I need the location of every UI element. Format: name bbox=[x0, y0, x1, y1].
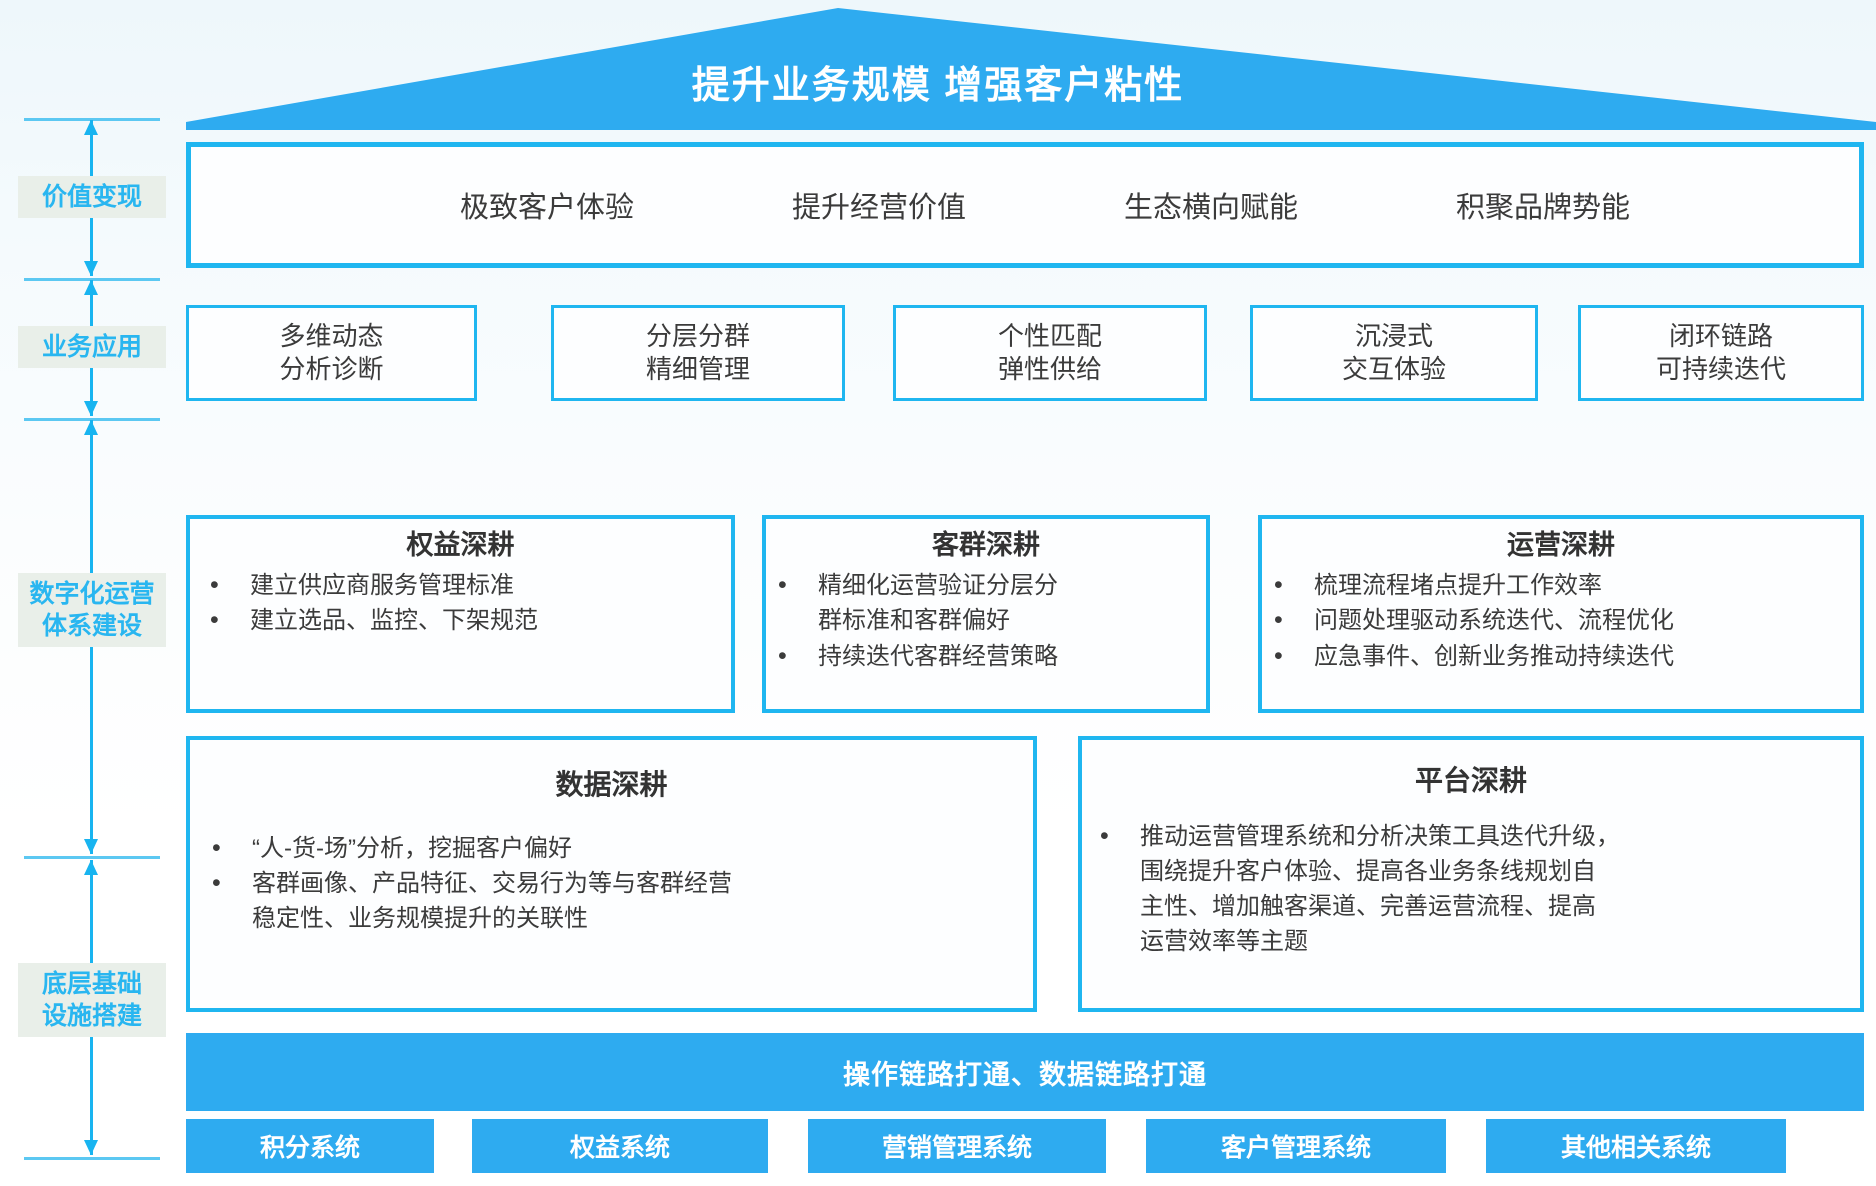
axis-tick-4 bbox=[24, 856, 160, 859]
list-item-continuation: 围绕提升客户体验、提高各业务条线规划自 bbox=[1094, 855, 1850, 889]
biz-app-line-2: 分析诊断 bbox=[279, 353, 383, 386]
system-box-other[interactable]: 其他相关系统 bbox=[1486, 1119, 1786, 1173]
biz-app-box-3[interactable]: 个性匹配 弹性供给 bbox=[893, 305, 1207, 401]
arrow-head-down-icon bbox=[84, 1140, 98, 1155]
arrow-head-down-icon bbox=[84, 261, 98, 276]
arrow-head-up-icon bbox=[84, 280, 98, 295]
link-bar: 操作链路打通、数据链路打通 bbox=[186, 1033, 1864, 1111]
system-box-customer[interactable]: 客户管理系统 bbox=[1146, 1119, 1446, 1173]
arrow-head-up-icon bbox=[84, 120, 98, 135]
axis-label-value-realization: 价值变现 bbox=[18, 176, 166, 218]
value-item-brand-momentum: 积聚品牌势能 bbox=[1456, 184, 1630, 226]
axis-label-line-1: 底层基础 bbox=[18, 968, 166, 1000]
deep-box-title: 平台深耕 bbox=[1082, 764, 1860, 798]
deep-box-rights[interactable]: 权益深耕 建立供应商服务管理标准 建立选品、监控、下架规范 bbox=[186, 515, 735, 713]
biz-app-line-1: 个性匹配 bbox=[998, 320, 1102, 353]
biz-app-line-1: 沉浸式 bbox=[1355, 320, 1433, 353]
system-box-rights[interactable]: 权益系统 bbox=[472, 1119, 768, 1173]
deep-box-bullet-list: 梳理流程堵点提升工作效率 问题处理驱动系统迭代、流程优化 应急事件、创新业务推动… bbox=[1262, 569, 1860, 673]
deep-box-customer-group[interactable]: 客群深耕 精细化运营验证分层分 群标准和客群偏好 持续迭代客群经营策略 bbox=[762, 515, 1210, 713]
list-item: 建立选品、监控、下架规范 bbox=[204, 604, 721, 638]
axis-tick-5 bbox=[24, 1157, 160, 1160]
axis-label-line-1: 数字化运营 bbox=[18, 578, 166, 610]
system-box-marketing[interactable]: 营销管理系统 bbox=[808, 1119, 1106, 1173]
biz-app-box-1[interactable]: 多维动态 分析诊断 bbox=[186, 305, 477, 401]
list-item: 精细化运营验证分层分 bbox=[772, 569, 1196, 603]
diagram-canvas: 提升业务规模 增强客户粘性 价值变现 业务应用 数字化运营 体系建设 bbox=[0, 0, 1876, 1186]
deep-box-title: 运营深耕 bbox=[1262, 529, 1860, 561]
list-item: “人-货-场”分析，挖掘客户偏好 bbox=[206, 832, 1023, 866]
axis-label-infrastructure: 底层基础 设施搭建 bbox=[18, 963, 166, 1037]
axis-label-line-2: 体系建设 bbox=[18, 610, 166, 642]
biz-app-line-2: 精细管理 bbox=[646, 353, 750, 386]
arrow-head-up-icon bbox=[84, 420, 98, 435]
biz-app-line-1: 多维动态 bbox=[279, 320, 383, 353]
list-item-continuation: 稳定性、业务规模提升的关联性 bbox=[206, 902, 1023, 936]
biz-app-box-5[interactable]: 闭环链路 可持续迭代 bbox=[1578, 305, 1864, 401]
list-item: 建立供应商服务管理标准 bbox=[204, 569, 721, 603]
deep-box-bullet-list: 精细化运营验证分层分 群标准和客群偏好 持续迭代客群经营策略 bbox=[766, 569, 1206, 673]
list-item-continuation: 群标准和客群偏好 bbox=[772, 604, 1196, 638]
left-axis: 价值变现 业务应用 数字化运营 体系建设 底层基础 设施搭建 bbox=[12, 118, 172, 1160]
list-item: 应急事件、创新业务推动持续迭代 bbox=[1268, 640, 1850, 674]
biz-app-line-2: 交互体验 bbox=[1342, 353, 1446, 386]
list-item-continuation: 运营效率等主题 bbox=[1094, 925, 1850, 959]
axis-label-business-application: 业务应用 bbox=[18, 326, 166, 368]
biz-app-line-2: 弹性供给 bbox=[998, 353, 1102, 386]
list-item: 持续迭代客群经营策略 bbox=[772, 640, 1196, 674]
value-item-customer-experience: 极致客户体验 bbox=[460, 184, 634, 226]
deep-box-platform[interactable]: 平台深耕 推动运营管理系统和分析决策工具迭代升级， 围绕提升客户体验、提高各业务… bbox=[1078, 736, 1864, 1012]
value-item-ecosystem-enabling: 生态横向赋能 bbox=[1124, 184, 1298, 226]
biz-app-line-1: 分层分群 bbox=[646, 320, 750, 353]
list-item: 问题处理驱动系统迭代、流程优化 bbox=[1268, 604, 1850, 638]
biz-app-box-4[interactable]: 沉浸式 交互体验 bbox=[1250, 305, 1538, 401]
arrow-head-down-icon bbox=[84, 839, 98, 854]
value-item-business-value: 提升经营价值 bbox=[792, 184, 966, 226]
deep-box-data[interactable]: 数据深耕 “人-货-场”分析，挖掘客户偏好 客群画像、产品特征、交易行为等与客群… bbox=[186, 736, 1037, 1012]
deep-box-bullet-list: 推动运营管理系统和分析决策工具迭代升级， 围绕提升客户体验、提高各业务条线规划自… bbox=[1082, 820, 1860, 959]
arrow-head-up-icon bbox=[84, 860, 98, 875]
system-box-points[interactable]: 积分系统 bbox=[186, 1119, 434, 1173]
biz-app-line-1: 闭环链路 bbox=[1669, 320, 1773, 353]
arrow-head-down-icon bbox=[84, 401, 98, 416]
biz-app-box-2[interactable]: 分层分群 精细管理 bbox=[551, 305, 845, 401]
deep-box-bullet-list: “人-货-场”分析，挖掘客户偏好 客群画像、产品特征、交易行为等与客群经营 稳定… bbox=[190, 832, 1033, 936]
axis-label-digital-operation: 数字化运营 体系建设 bbox=[18, 573, 166, 647]
list-item: 推动运营管理系统和分析决策工具迭代升级， bbox=[1094, 820, 1850, 854]
list-item-continuation: 主性、增加触客渠道、完善运营流程、提高 bbox=[1094, 890, 1850, 924]
axis-label-line-2: 设施搭建 bbox=[18, 1000, 166, 1032]
biz-app-line-2: 可持续迭代 bbox=[1656, 353, 1786, 386]
roof-shape bbox=[0, 0, 1876, 130]
list-item: 客群画像、产品特征、交易行为等与客群经营 bbox=[206, 867, 1023, 901]
deep-box-title: 权益深耕 bbox=[190, 529, 731, 561]
deep-box-title: 客群深耕 bbox=[766, 529, 1206, 561]
deep-box-bullet-list: 建立供应商服务管理标准 建立选品、监控、下架规范 bbox=[190, 569, 731, 638]
deep-box-operation[interactable]: 运营深耕 梳理流程堵点提升工作效率 问题处理驱动系统迭代、流程优化 应急事件、创… bbox=[1258, 515, 1864, 713]
deep-box-title: 数据深耕 bbox=[190, 768, 1033, 802]
list-item: 梳理流程堵点提升工作效率 bbox=[1268, 569, 1850, 603]
value-realization-band: 极致客户体验 提升经营价值 生态横向赋能 积聚品牌势能 bbox=[186, 142, 1864, 268]
